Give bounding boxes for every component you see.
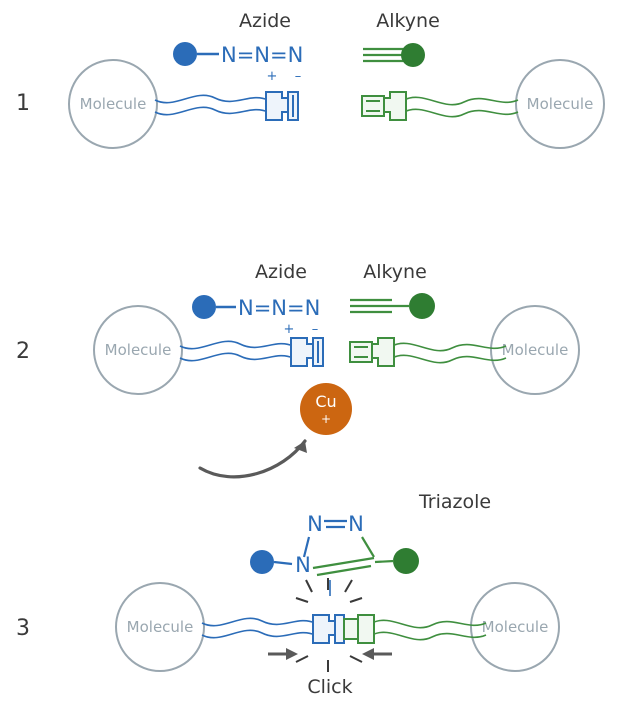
- step-2-alkyne-label: Alkyne: [363, 261, 427, 283]
- step-2-azide-formula: N=N=N: [238, 296, 320, 320]
- step-3-left-linker-upper: [202, 618, 315, 625]
- step-1-right-molecule-label: Molecule: [527, 95, 594, 113]
- step-2-azide-linker-lower: [180, 353, 293, 360]
- click-arrow-right-head: [362, 648, 374, 660]
- step-2-azide-charge-plus: +: [284, 322, 295, 337]
- step-3-triazole-label: Triazole: [418, 491, 491, 513]
- step-3-blue-connector-plug: [313, 615, 335, 643]
- spark-line-7: [350, 656, 362, 662]
- spark-line-5: [350, 598, 362, 602]
- step-3-right-molecule-label: Molecule: [482, 618, 549, 636]
- step-3-azide-bond: [274, 562, 292, 564]
- step-1-azide-charge-plus: +: [267, 69, 278, 84]
- step-1-alkyne-label: Alkyne: [376, 10, 440, 32]
- click-arrow-left-head: [286, 648, 298, 660]
- step-3-left-molecule-label: Molecule: [127, 618, 194, 636]
- step-1-azide-dot: [173, 42, 197, 66]
- step-1-azide-charge-minus: –: [295, 69, 302, 84]
- step-3-number: 3: [16, 616, 30, 641]
- step-3-green-connector-body: [344, 619, 358, 639]
- step-3-blue-connector-body: [335, 615, 344, 643]
- spark-line-2: [345, 580, 352, 592]
- click-chemistry-diagram: 1 Molecule Molecule Azide Alkyne N=N=N +…: [0, 0, 624, 716]
- step-1-left-molecule-label: Molecule: [80, 95, 147, 113]
- step-1-azide-label: Azide: [239, 10, 291, 32]
- step-1-number: 1: [16, 91, 30, 116]
- step-2-azide-dot: [192, 295, 216, 319]
- step-2-azide-connector-plug: [291, 338, 313, 366]
- triazole-bond-cc-b: [317, 566, 371, 575]
- copper-catalyst-label: Cu: [315, 392, 336, 411]
- triazole-bond-n-c-right: [362, 537, 374, 557]
- step-2-azide-label: Azide: [255, 261, 307, 283]
- click-label: Click: [307, 676, 352, 698]
- triazole-atom-n2: N: [307, 512, 323, 536]
- spark-line-1: [306, 580, 312, 592]
- step-2-azide-charge-minus: –: [312, 322, 319, 337]
- step-1-group: 1 Molecule Molecule Azide Alkyne N=N=N +…: [16, 10, 604, 148]
- step-2-right-molecule-label: Molecule: [502, 341, 569, 359]
- step-2-number: 2: [16, 339, 30, 364]
- step-2-alkyne-linker-lower: [392, 355, 506, 362]
- step-3-alkyne-bond: [375, 561, 394, 562]
- step-2-azide-linker-upper: [180, 341, 293, 348]
- step-3-left-linker-lower: [202, 630, 315, 637]
- step-2-alkyne-linker-upper: [392, 343, 506, 350]
- step-3-alkyne-dot: [393, 548, 419, 574]
- step-2-alkyne-dot: [409, 293, 435, 319]
- spark-line-4: [296, 598, 308, 602]
- step-1-alkyne-connector-body: [362, 96, 384, 116]
- step-1-azide-formula: N=N=N: [221, 43, 303, 67]
- step-1-alkyne-linker-lower: [404, 109, 518, 116]
- step-1-azide-linker-upper: [155, 95, 268, 102]
- copper-catalyst-charge: +: [321, 412, 331, 426]
- step-3-azide-dot: [250, 550, 274, 574]
- spark-line-6: [296, 656, 308, 662]
- step-1-alkyne-linker-upper: [404, 97, 518, 104]
- step-1-azide-connector-plug: [266, 92, 288, 120]
- step-3-right-linker-upper: [372, 620, 486, 627]
- step-3-right-linker-lower: [372, 632, 486, 639]
- catalyst-arrow-curve: [200, 441, 305, 477]
- step-2-left-molecule-label: Molecule: [105, 341, 172, 359]
- step-2-alkyne-connector-body: [350, 342, 372, 362]
- step-1-alkyne-connector-socket: [384, 92, 406, 120]
- step-2-alkyne-connector-socket: [372, 338, 394, 366]
- step-1-azide-linker-lower: [155, 107, 268, 114]
- step-2-group: 2 Molecule Molecule Azide Alkyne N=N=N +…: [16, 261, 579, 477]
- triazole-atom-n3: N: [348, 512, 364, 536]
- step-1-alkyne-dot: [401, 43, 425, 67]
- step-3-group: 3 Triazole Molecule Molecule N N N: [16, 491, 559, 698]
